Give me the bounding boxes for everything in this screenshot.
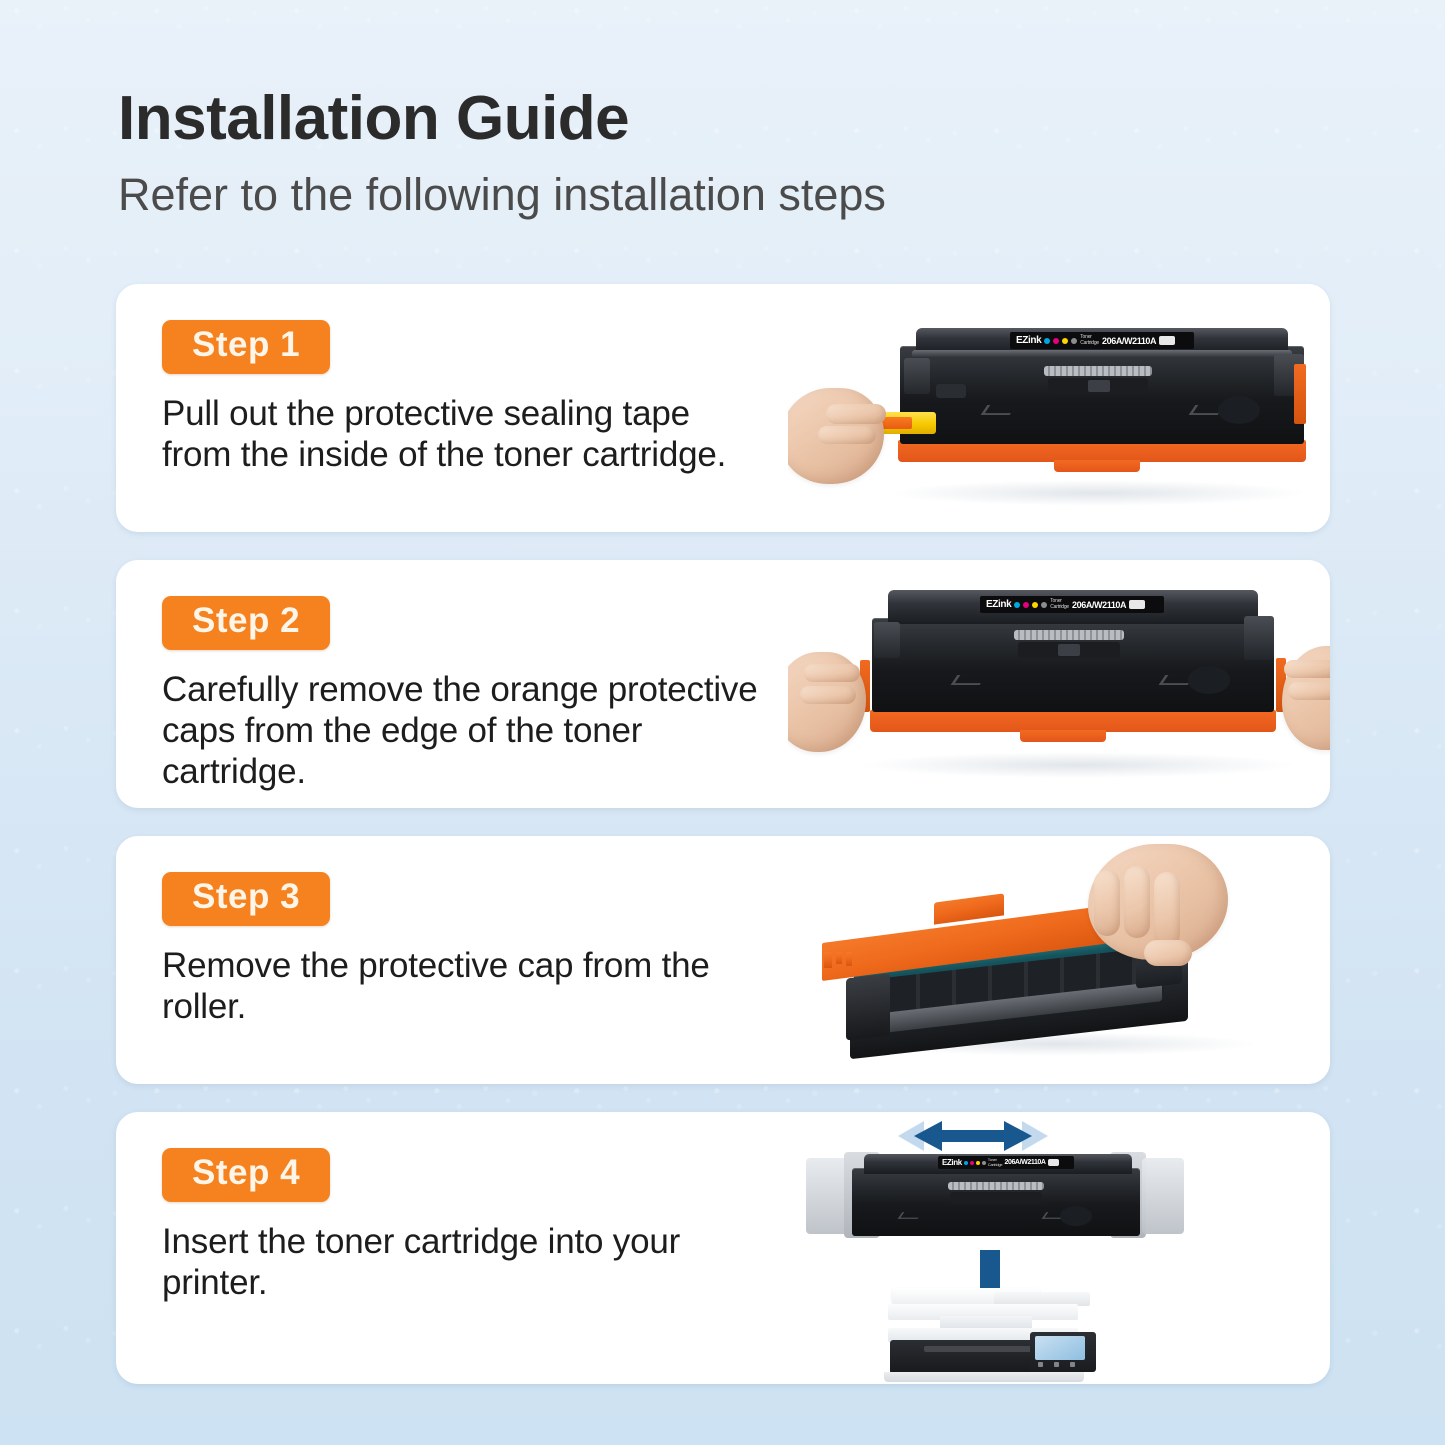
hand-finger-3 [1154, 872, 1180, 948]
label-line2: Cartridge [1050, 605, 1069, 610]
hand-left-index-finger [804, 664, 860, 682]
step-2-badge: Step 2 [162, 596, 330, 650]
step-3-text-column: Step 3 Remove the protective cap from th… [116, 836, 788, 1084]
printer-touchscreen [1035, 1336, 1085, 1360]
label-brand: EZink [1016, 335, 1041, 346]
cartridge-left-end-cap [846, 973, 890, 1040]
cartridge-top-edge [912, 350, 1292, 358]
page-header: Installation Guide Refer to the followin… [118, 86, 1268, 221]
label-model: 206A/W2110A [1102, 336, 1156, 346]
printer-button-1 [1038, 1362, 1043, 1367]
hand-finger-1 [1094, 870, 1120, 936]
printer-button-2 [1054, 1362, 1059, 1367]
label-model: 206A/W2110A [1004, 1159, 1045, 1166]
step-4-badge: Step 4 [162, 1148, 330, 1202]
cartridge-gear-port [1218, 396, 1260, 424]
label-magenta-dot [1053, 338, 1059, 344]
label-model: 206A/W2110A [1072, 600, 1126, 610]
cartridge-orange-tab [1054, 460, 1140, 472]
step-1-text-column: Step 1 Pull out the protective sealing t… [116, 284, 788, 532]
cartridge-center-slot [950, 1192, 1042, 1204]
cartridge-label: EZink Toner Cartridge 206A/W2110A [938, 1156, 1074, 1169]
cartridge-right-orange-clip [1294, 364, 1306, 424]
cartridge-drum-strip [1014, 630, 1124, 640]
step-2-description: Carefully remove the orange protective c… [162, 670, 762, 793]
cartridge-gear-port [1060, 1206, 1092, 1226]
hand-thumb [1144, 940, 1192, 966]
label-cyan-dot [1044, 338, 1050, 344]
printer-button-3 [1070, 1362, 1075, 1367]
horizontal-double-arrow [898, 1116, 1048, 1156]
label-line2: Cartridge [1080, 341, 1099, 346]
step-card-3: Step 3 Remove the protective cap from th… [116, 836, 1330, 1084]
hand-right-index-finger [1284, 660, 1330, 678]
cartridge-center-latch [1088, 380, 1110, 392]
printer-base [884, 1372, 1084, 1382]
label-black-dot [1041, 602, 1047, 608]
step-4-figure: EZink Toner Cartridge 206A/W2110A [788, 1112, 1330, 1384]
step-3-badge: Step 3 [162, 872, 330, 926]
steps-list: Step 1 Pull out the protective sealing t… [116, 284, 1330, 1412]
label-yellow-dot [976, 1161, 980, 1165]
step-2-text-column: Step 2 Carefully remove the orange prote… [116, 560, 788, 808]
cartridge-label: EZink Toner Cartridge 206A/W2110A [1010, 332, 1194, 349]
step-3-figure [788, 836, 1330, 1084]
cartridge-gear-port [1188, 666, 1230, 694]
step-2-figure: EZink Toner Cartridge 206A/W2110A [788, 560, 1330, 808]
label-logo-badge [1048, 1159, 1059, 1166]
cartridge-center-latch [1058, 644, 1080, 656]
page-title: Installation Guide [118, 86, 1268, 151]
step-1-description: Pull out the protective sealing tape fro… [162, 394, 762, 476]
hand-left-thumb [818, 426, 876, 444]
installation-guide-page: Installation Guide Refer to the followin… [0, 0, 1445, 1445]
step-3-description: Remove the protective cap from the rolle… [162, 946, 762, 1028]
label-cyan-dot [1014, 602, 1020, 608]
orange-cap-tooth-3 [846, 952, 852, 966]
step-card-1: Step 1 Pull out the protective sealing t… [116, 284, 1330, 532]
label-brand: EZink [986, 599, 1011, 610]
printer-rail-left-outer [806, 1158, 848, 1234]
page-subtitle: Refer to the following installation step… [118, 169, 1268, 221]
cartridge-orange-base [870, 710, 1276, 732]
orange-cap-tooth-1 [824, 952, 832, 968]
hand-left-thumb [800, 686, 856, 704]
cartridge-label: EZink Toner Cartridge 206A/W2110A [980, 596, 1164, 613]
cartridge-drum-strip [1044, 366, 1152, 376]
step-1-badge: Step 1 [162, 320, 330, 374]
label-black-dot [1071, 338, 1077, 344]
label-yellow-dot [1062, 338, 1068, 344]
label-magenta-dot [1023, 602, 1029, 608]
label-black-dot [982, 1161, 986, 1165]
cartridge-orange-tab [1020, 730, 1106, 742]
step-card-2: Step 2 Carefully remove the orange prote… [116, 560, 1330, 808]
label-brand: EZink [942, 1158, 962, 1167]
cartridge-left-end-cap [874, 622, 900, 658]
printer-rail-right-outer [1142, 1158, 1184, 1234]
printer [884, 1288, 1104, 1384]
label-logo-badge [1159, 336, 1175, 345]
hand-left-index-finger [826, 404, 886, 424]
orange-cap-tooth-2 [836, 952, 842, 964]
cartridge-right-end-cap [1244, 616, 1274, 660]
step-1-figure: EZink Toner Cartridge 206A/W2110A [788, 284, 1330, 532]
hand-right-thumb [1288, 682, 1330, 700]
hand-finger-2 [1124, 866, 1150, 938]
cartridge-left-end-cap [904, 358, 930, 394]
step-4-text-column: Step 4 Insert the toner cartridge into y… [116, 1112, 788, 1384]
cartridge-left-notch [936, 384, 966, 398]
label-cyan-dot [964, 1161, 968, 1165]
label-logo-badge [1129, 600, 1145, 609]
label-yellow-dot [1032, 602, 1038, 608]
step-card-4: Step 4 Insert the toner cartridge into y… [116, 1112, 1330, 1384]
label-magenta-dot [970, 1161, 974, 1165]
step-4-description: Insert the toner cartridge into your pri… [162, 1222, 762, 1304]
label-line2: Cartridge [988, 1163, 1003, 1167]
cartridge-drum-strip [948, 1182, 1044, 1190]
